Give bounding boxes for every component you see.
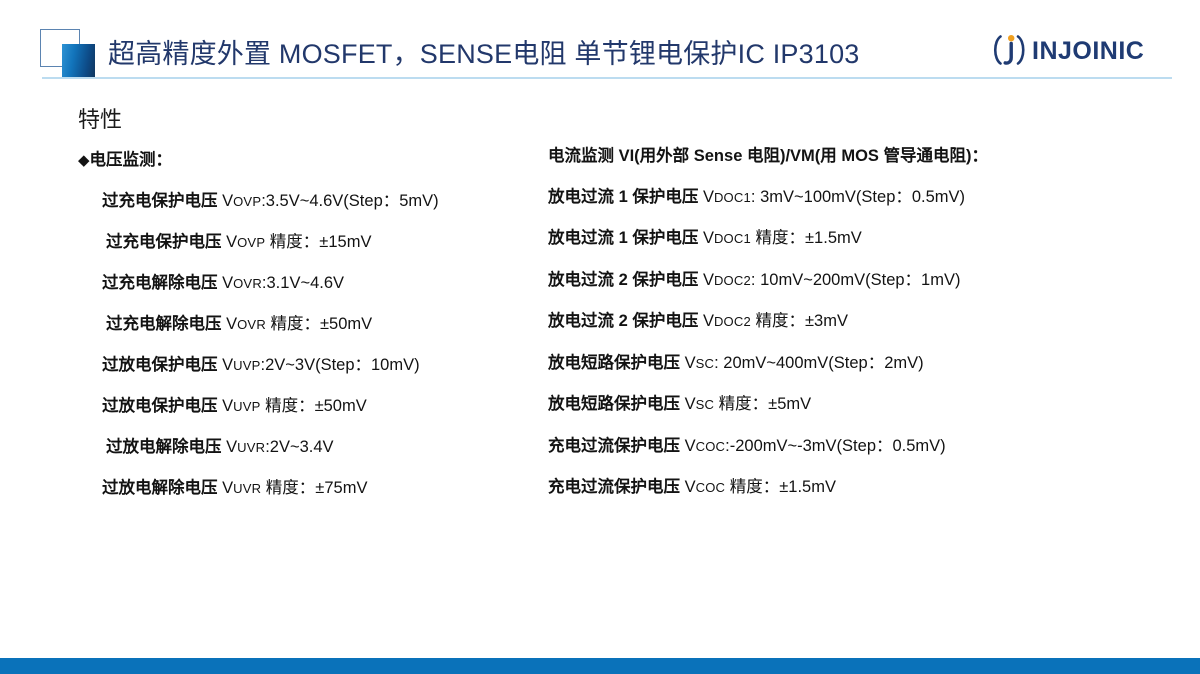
- feature-value: 精度：±3mV: [751, 312, 848, 330]
- feature-line: 过充电保护电压 VOVP 精度：±15mV: [78, 222, 548, 263]
- symbol-letter: V: [703, 229, 714, 247]
- symbol-subscript: OVP: [233, 194, 261, 209]
- symbol-letter: V: [703, 188, 714, 206]
- slide-header: 超高精度外置 MOSFET，SENSE电阻 单节锂电保护IC IP3103 IN…: [0, 0, 1200, 80]
- symbol-letter: V: [703, 312, 714, 330]
- feature-line: 过放电解除电压 VUVR:2V~3.4V: [78, 427, 548, 468]
- company-logo: INJOINIC: [988, 33, 1164, 67]
- symbol-subscript: COC: [696, 480, 726, 495]
- symbol-letter: V: [703, 271, 714, 289]
- feature-label: 放电过流 1 保护电压: [548, 229, 703, 247]
- feature-label: 过充电保护电压: [106, 233, 226, 251]
- feature-value: 精度：±5mV: [714, 395, 811, 413]
- feature-label: 过放电解除电压: [106, 438, 226, 456]
- symbol-letter: V: [222, 192, 233, 210]
- feature-value: 精度：±50mV: [260, 397, 366, 415]
- feature-label: 充电过流保护电压: [548, 478, 685, 496]
- symbol-subscript: UVP: [233, 399, 260, 414]
- slide: 超高精度外置 MOSFET，SENSE电阻 单节锂电保护IC IP3103 IN…: [0, 0, 1200, 674]
- feature-label: 过放电解除电压: [102, 479, 222, 497]
- feature-line: 过充电解除电压 VOVR:3.1V~4.6V: [78, 263, 548, 304]
- feature-label: 放电短路保护电压: [548, 395, 685, 413]
- symbol-letter: V: [222, 397, 233, 415]
- diamond-bullet-icon: ◆: [78, 152, 90, 169]
- symbol-letter: V: [222, 274, 233, 292]
- feature-line: 放电短路保护电压 VSC 精度：±5mV: [548, 384, 1018, 426]
- feature-value: :3.5V~4.6V(Step：5mV): [261, 192, 438, 210]
- feature-line: 放电过流 2 保护电压 VDOC2 精度：±3mV: [548, 301, 1018, 343]
- symbol-subscript: UVR: [233, 481, 261, 496]
- feature-label: 过充电解除电压: [102, 274, 222, 292]
- symbol-subscript: SC: [696, 356, 714, 371]
- logo-wordmark: INJOINIC: [1032, 37, 1144, 65]
- feature-label: 过放电保护电压: [102, 356, 222, 374]
- symbol-subscript: OVR: [233, 276, 262, 291]
- feature-line: 放电过流 2 保护电压 VDOC2: 10mV~200mV(Step：1mV): [548, 260, 1018, 302]
- symbol-subscript: UVR: [237, 440, 265, 455]
- feature-label: 过充电保护电压: [102, 192, 222, 210]
- feature-line: 过放电保护电压 VUVP 精度：±50mV: [78, 386, 548, 427]
- left-column-bullet-label: 电压监测：: [90, 151, 173, 169]
- features-left-column: ◆电压监测： 过充电保护电压 VOVP:3.5V~4.6V(Step：5mV)过…: [78, 146, 548, 509]
- symbol-letter: V: [222, 479, 233, 497]
- feature-value: 精度：±1.5mV: [751, 229, 862, 247]
- section-title: 特性: [78, 104, 122, 136]
- feature-value: : 10mV~200mV(Step：1mV): [751, 271, 961, 289]
- feature-value: : 3mV~100mV(Step：0.5mV): [751, 188, 965, 206]
- symbol-letter: V: [226, 438, 237, 456]
- feature-label: 放电过流 1 保护电压: [548, 188, 703, 206]
- feature-label: 充电过流保护电压: [548, 437, 685, 455]
- feature-value: :2V~3V(Step：10mV): [260, 356, 419, 374]
- symbol-letter: V: [685, 395, 696, 413]
- symbol-subscript: DOC2: [714, 314, 751, 329]
- feature-line: 充电过流保护电压 VCOC:-200mV~-3mV(Step：0.5mV): [548, 426, 1018, 468]
- feature-line: 过充电解除电压 VOVR 精度：±50mV: [78, 304, 548, 345]
- right-column-heading: 电流监测 VI(用外部 Sense 电阻)/VM(用 MOS 管导通电阻)：: [548, 136, 1018, 177]
- feature-label: 过充电解除电压: [106, 315, 226, 333]
- feature-value: 精度：±50mV: [266, 315, 372, 333]
- feature-line: 过放电保护电压 VUVP:2V~3V(Step：10mV): [78, 345, 548, 386]
- feature-label: 放电过流 2 保护电压: [548, 312, 703, 330]
- feature-value: :3.1V~4.6V: [262, 274, 344, 292]
- feature-value: :2V~3.4V: [265, 438, 333, 456]
- header-decoration-squares-icon: [40, 29, 102, 77]
- symbol-subscript: DOC1: [714, 190, 751, 205]
- feature-label: 放电短路保护电压: [548, 354, 685, 372]
- page-title: 超高精度外置 MOSFET，SENSE电阻 单节锂电保护IC IP3103: [108, 34, 860, 74]
- header-divider: [42, 77, 1172, 79]
- symbol-subscript: DOC1: [714, 231, 751, 246]
- features-right-column: 电流监测 VI(用外部 Sense 电阻)/VM(用 MOS 管导通电阻)： 放…: [548, 136, 1018, 509]
- feature-value: 精度：±1.5mV: [725, 478, 836, 496]
- feature-value: 精度：±15mV: [265, 233, 371, 251]
- symbol-subscript: COC: [696, 439, 726, 454]
- feature-line: 充电过流保护电压 VCOC 精度：±1.5mV: [548, 467, 1018, 509]
- decoration-filled-square-icon: [62, 44, 95, 77]
- footer-accent-bar: [0, 658, 1200, 674]
- feature-value: 精度：±75mV: [261, 479, 367, 497]
- feature-value: :-200mV~-3mV(Step：0.5mV): [725, 437, 946, 455]
- symbol-letter: V: [222, 356, 233, 374]
- symbol-letter: V: [685, 437, 696, 455]
- feature-line: 过充电保护电压 VOVP:3.5V~4.6V(Step：5mV): [78, 181, 548, 222]
- symbol-letter: V: [685, 478, 696, 496]
- feature-value: : 20mV~400mV(Step：2mV): [714, 354, 924, 372]
- feature-line: 放电过流 1 保护电压 VDOC1 精度：±1.5mV: [548, 218, 1018, 260]
- symbol-subscript: OVP: [237, 235, 265, 250]
- symbol-letter: V: [685, 354, 696, 372]
- symbol-subscript: OVR: [237, 317, 266, 332]
- symbol-subscript: DOC2: [714, 273, 751, 288]
- symbol-subscript: SC: [696, 397, 714, 412]
- injoinic-logo-icon: INJOINIC: [988, 33, 1164, 67]
- feature-line: 过放电解除电压 VUVR 精度：±75mV: [78, 468, 548, 509]
- feature-label: 过放电保护电压: [102, 397, 222, 415]
- feature-line: 放电过流 1 保护电压 VDOC1: 3mV~100mV(Step：0.5mV): [548, 177, 1018, 219]
- symbol-subscript: UVP: [233, 358, 260, 373]
- symbol-letter: V: [226, 315, 237, 333]
- feature-line: 放电短路保护电压 VSC: 20mV~400mV(Step：2mV): [548, 343, 1018, 385]
- feature-label: 放电过流 2 保护电压: [548, 271, 703, 289]
- symbol-letter: V: [226, 233, 237, 251]
- left-column-bullet-heading: ◆电压监测：: [78, 146, 548, 175]
